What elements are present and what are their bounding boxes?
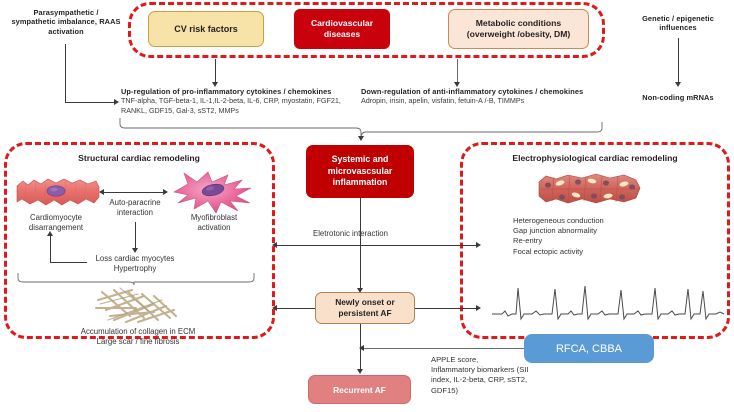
connector-autoparacrine bbox=[103, 192, 165, 193]
connector-inflammation-af bbox=[360, 198, 361, 290]
connector-eletrotonic-line bbox=[275, 245, 478, 246]
arrow-af-left bbox=[272, 305, 277, 311]
downregulation-block: Down-regulation of anti-inflammatory cyt… bbox=[361, 87, 611, 106]
arrow-loss-down bbox=[132, 248, 138, 253]
arrow-to-upregulation bbox=[114, 99, 119, 105]
connector-metabolic-vertical bbox=[457, 59, 458, 84]
upregulation-body: TNF-alpha, TGF-beta-1, IL-1,IL-2-beta, I… bbox=[121, 96, 365, 114]
arrow-af-recurrent-down bbox=[357, 369, 363, 374]
eletrotonic-label: Eletrotonic interaction bbox=[313, 229, 433, 239]
arrow-eletrotonic-right bbox=[476, 242, 481, 248]
cardiovascular-diseases-box[interactable]: Cardiovasculardiseases bbox=[294, 9, 390, 49]
arrow-autoparacrine-right bbox=[163, 189, 168, 195]
arrow-af-right bbox=[476, 305, 481, 311]
cv-risk-factors-box[interactable]: CV risk factors bbox=[148, 11, 264, 47]
connector-parasympathetic-horizontal bbox=[65, 102, 115, 103]
recurrent-af-box[interactable]: Recurrent AF bbox=[308, 375, 411, 404]
parasympathetic-label: Parasympathetic /sympathetic imbalance, … bbox=[6, 8, 126, 36]
upregulation-heading: Up-regulation of pro-inflammatory cytoki… bbox=[121, 87, 365, 96]
collagen-mesh-illustration bbox=[92, 286, 180, 326]
connector-af-right bbox=[415, 308, 478, 309]
systemic-inflammation-box[interactable]: Systemic andmicrovascsularinflammation bbox=[306, 145, 414, 198]
electro-bullets: Heterogeneous conductionGap junction abn… bbox=[513, 216, 713, 257]
collagen-brace bbox=[16, 272, 256, 286]
connector-genetic-vertical bbox=[678, 38, 679, 84]
downregulation-body: Adropin, irisin, apelin, visfatin, fetui… bbox=[361, 96, 611, 105]
newly-onset-af-box[interactable]: Newly onset orpersistent AF bbox=[315, 292, 415, 324]
genetic-epigenetic-label: Genetic / epigeneticinfluences bbox=[625, 14, 731, 33]
connector-loss-vertical bbox=[135, 222, 136, 250]
connector-feedback-horizontal bbox=[50, 262, 87, 263]
myofibroblast-illustration bbox=[172, 170, 254, 214]
electro-title: Electrophysiological cardiac remodeling bbox=[466, 153, 724, 163]
arrow-rfca-left bbox=[359, 345, 364, 351]
collagen-label: Accumulation of collagen in ECMLarge sca… bbox=[38, 327, 238, 346]
loss-myocytes-label: Loss cardiac myocytesHypertrophy bbox=[75, 254, 195, 273]
cardiomyocyte-label: Cardiomyocytedisarrangement bbox=[8, 213, 104, 232]
autoparacrine-label: Auto-paracrineinteraction bbox=[100, 198, 170, 217]
connector-feedback-vertical bbox=[50, 236, 51, 263]
cardiac-tissue-illustration bbox=[538, 172, 642, 206]
connector-af-left bbox=[275, 308, 315, 309]
arrow-feedback-up bbox=[47, 231, 53, 236]
arrow-eletrotonic-left bbox=[272, 242, 277, 248]
downregulation-heading: Down-regulation of anti-inflammatory cyt… bbox=[361, 87, 611, 96]
arrow-into-inflammation bbox=[358, 136, 364, 141]
apple-score-note: APPLE score,Inflammatory biomarkers (SII… bbox=[431, 355, 561, 396]
connector-cv-vertical bbox=[215, 59, 216, 84]
ecg-trace bbox=[492, 278, 724, 326]
connector-parasympathetic-vertical bbox=[65, 44, 66, 102]
metabolic-conditions-box[interactable]: Metabolic conditions(overweight /obesity… bbox=[448, 9, 589, 49]
arrow-genetic-down bbox=[675, 82, 681, 87]
connector-rfca-left bbox=[364, 348, 524, 349]
upregulation-block: Up-regulation of pro-inflammatory cytoki… bbox=[121, 87, 365, 115]
arrow-autoparacrine-left bbox=[99, 189, 104, 195]
cytokine-brace bbox=[118, 116, 618, 142]
structural-title: Structural cardiac remodeling bbox=[14, 153, 264, 163]
cardiomyocyte-illustration bbox=[14, 172, 102, 212]
non-coding-mrnas-label: Non-coding mRNAs bbox=[625, 93, 731, 102]
myofibroblast-label: Myofibroblastactivation bbox=[168, 213, 260, 232]
